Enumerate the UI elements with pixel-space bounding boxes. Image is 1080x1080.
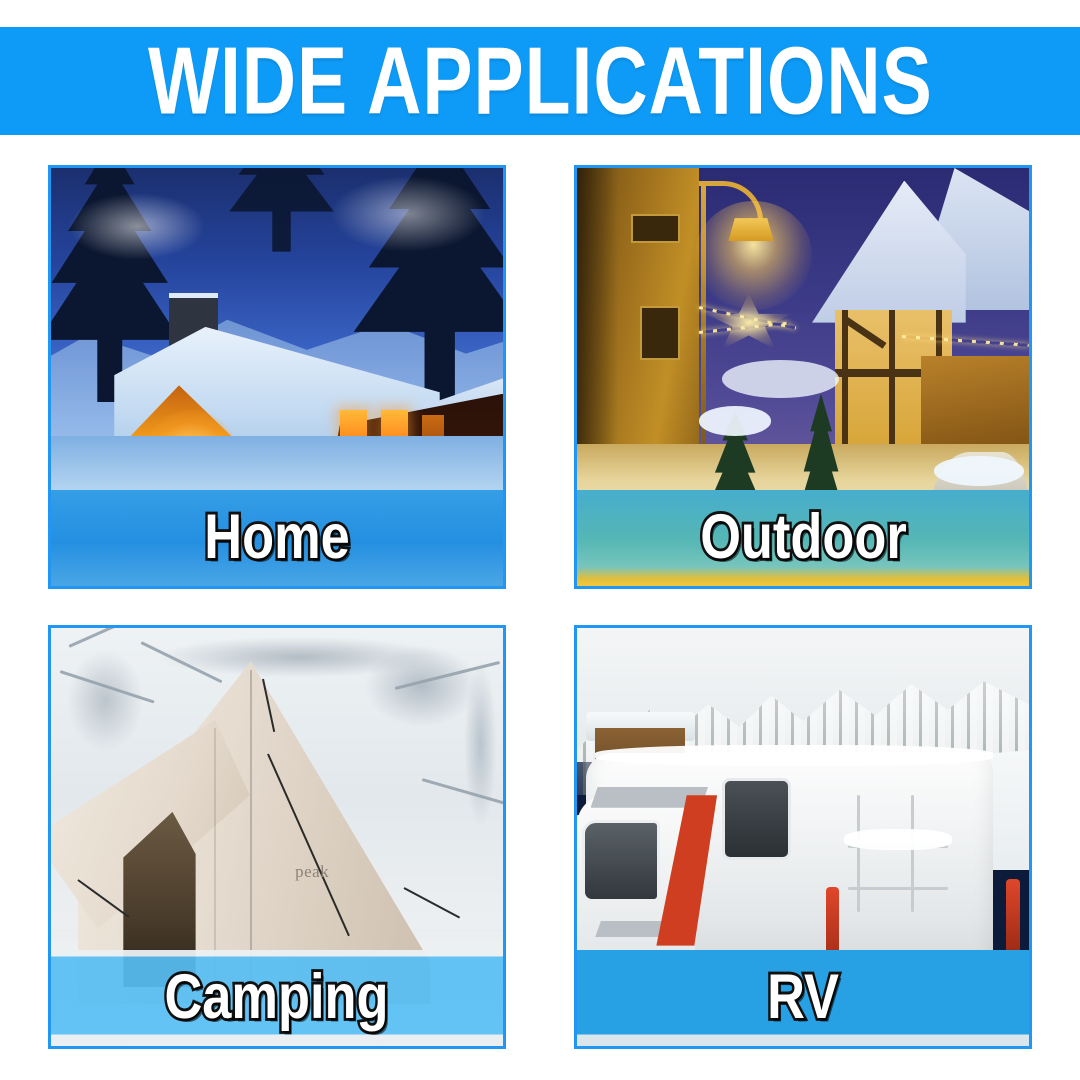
tile-label-outdoor: Outdoor (700, 503, 907, 570)
tent-seam (214, 728, 216, 987)
bike-rack-bar (857, 795, 860, 912)
bike-rack-bar (848, 887, 947, 890)
rv-label-band: RV (577, 950, 1029, 1046)
tail-light (1006, 879, 1020, 954)
page-title: WIDE APPLICATIONS (148, 31, 933, 132)
timber-beam (842, 310, 848, 444)
snow-on-branch (331, 176, 485, 251)
lamp-shade (728, 218, 773, 241)
timber-beam (889, 310, 895, 444)
applications-grid: Home (48, 165, 1032, 1049)
snow-on-roof (595, 745, 993, 766)
tent-seam (250, 670, 252, 988)
snow-on-rack (844, 829, 952, 850)
snow-cap (722, 360, 840, 398)
application-tile-camping[interactable]: peak Camping (48, 625, 506, 1049)
application-tile-outdoor[interactable]: Outdoor (574, 165, 1032, 589)
side-window (722, 778, 791, 859)
header-banner: WIDE APPLICATIONS (0, 27, 1080, 135)
window (631, 214, 680, 243)
lamp-glow (695, 201, 813, 310)
window (640, 306, 680, 360)
tile-label-camping: Camping (165, 963, 389, 1030)
tent-brand-text: peak (295, 862, 329, 881)
snow-cap (699, 406, 771, 435)
timber-beam (842, 316, 887, 349)
tile-label-rv: RV (767, 963, 839, 1030)
snow-on-branch (69, 193, 205, 260)
camping-label-band: Camping (51, 950, 503, 1046)
home-label-band: Home (51, 490, 503, 586)
tent-brand-mark: peak (295, 862, 329, 882)
snow-on-car (934, 456, 1024, 485)
application-tile-rv[interactable]: RV (574, 625, 1032, 1049)
tile-label-home: Home (204, 503, 350, 570)
windshield (582, 820, 660, 901)
application-tile-home[interactable]: Home (48, 165, 506, 589)
outdoor-label-band: Outdoor (577, 490, 1029, 586)
